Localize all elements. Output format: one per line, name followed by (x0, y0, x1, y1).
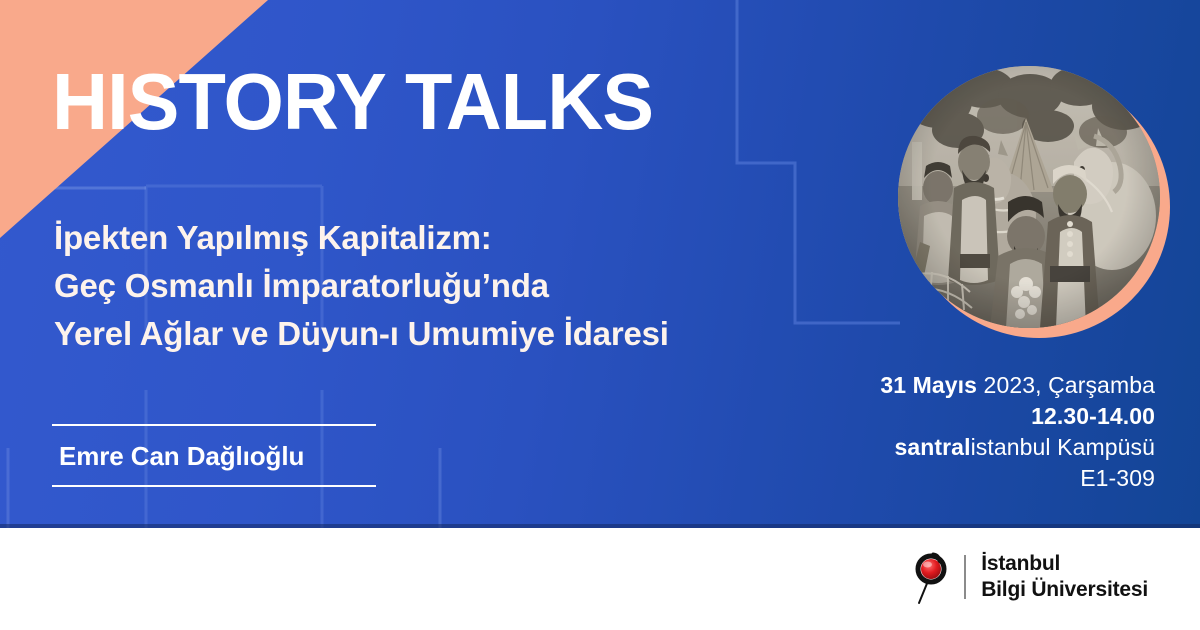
talk-title-line-1: İpekten Yapılmış Kapitalizm: (54, 214, 854, 262)
event-campus-strong: santral (894, 434, 970, 460)
logo-text-line-1: İstanbul (981, 551, 1148, 577)
photo-container (898, 66, 1170, 338)
event-details: 31 Mayıs 2023, Çarşamba 12.30-14.00 sant… (880, 370, 1155, 494)
bilgi-pin-logo-icon (911, 549, 951, 605)
footer-band: İstanbul Bilgi Üniversitesi (0, 528, 1200, 630)
logo-text-line-2: Bilgi Üniversitesi (981, 577, 1148, 603)
talk-title-line-3: Yerel Ağlar ve Düyun-ı Umumiye İdaresi (54, 310, 854, 358)
talk-title-line-2: Geç Osmanlı İmparatorluğu’nda (54, 262, 854, 310)
event-campus: santralistanbul Kampüsü (880, 432, 1155, 463)
page-title: HISTORY TALKS (52, 62, 653, 142)
logo-text: İstanbul Bilgi Üniversitesi (981, 551, 1148, 603)
event-date: 31 Mayıs 2023, Çarşamba (880, 370, 1155, 401)
event-poster: HISTORY TALKS İpekten Yapılmış Kapitaliz… (0, 0, 1200, 630)
speaker-block: Emre Can Dağlıoğlu (52, 424, 376, 487)
speaker-rule-bottom (52, 485, 376, 487)
event-campus-rest: istanbul Kampüsü (971, 434, 1155, 460)
poster-background-panel: HISTORY TALKS İpekten Yapılmış Kapitaliz… (0, 0, 1200, 528)
talk-title: İpekten Yapılmış Kapitalizm: Geç Osmanlı… (54, 214, 854, 358)
event-room: E1-309 (880, 463, 1155, 494)
speaker-name: Emre Can Dağlıoğlu (52, 426, 376, 485)
event-date-rest: 2023, Çarşamba (977, 372, 1155, 398)
event-date-strong: 31 Mayıs (880, 372, 977, 398)
logo-divider (964, 555, 966, 599)
historical-photograph (898, 66, 1160, 328)
university-logo: İstanbul Bilgi Üniversitesi (911, 546, 1148, 608)
event-time: 12.30-14.00 (880, 401, 1155, 432)
